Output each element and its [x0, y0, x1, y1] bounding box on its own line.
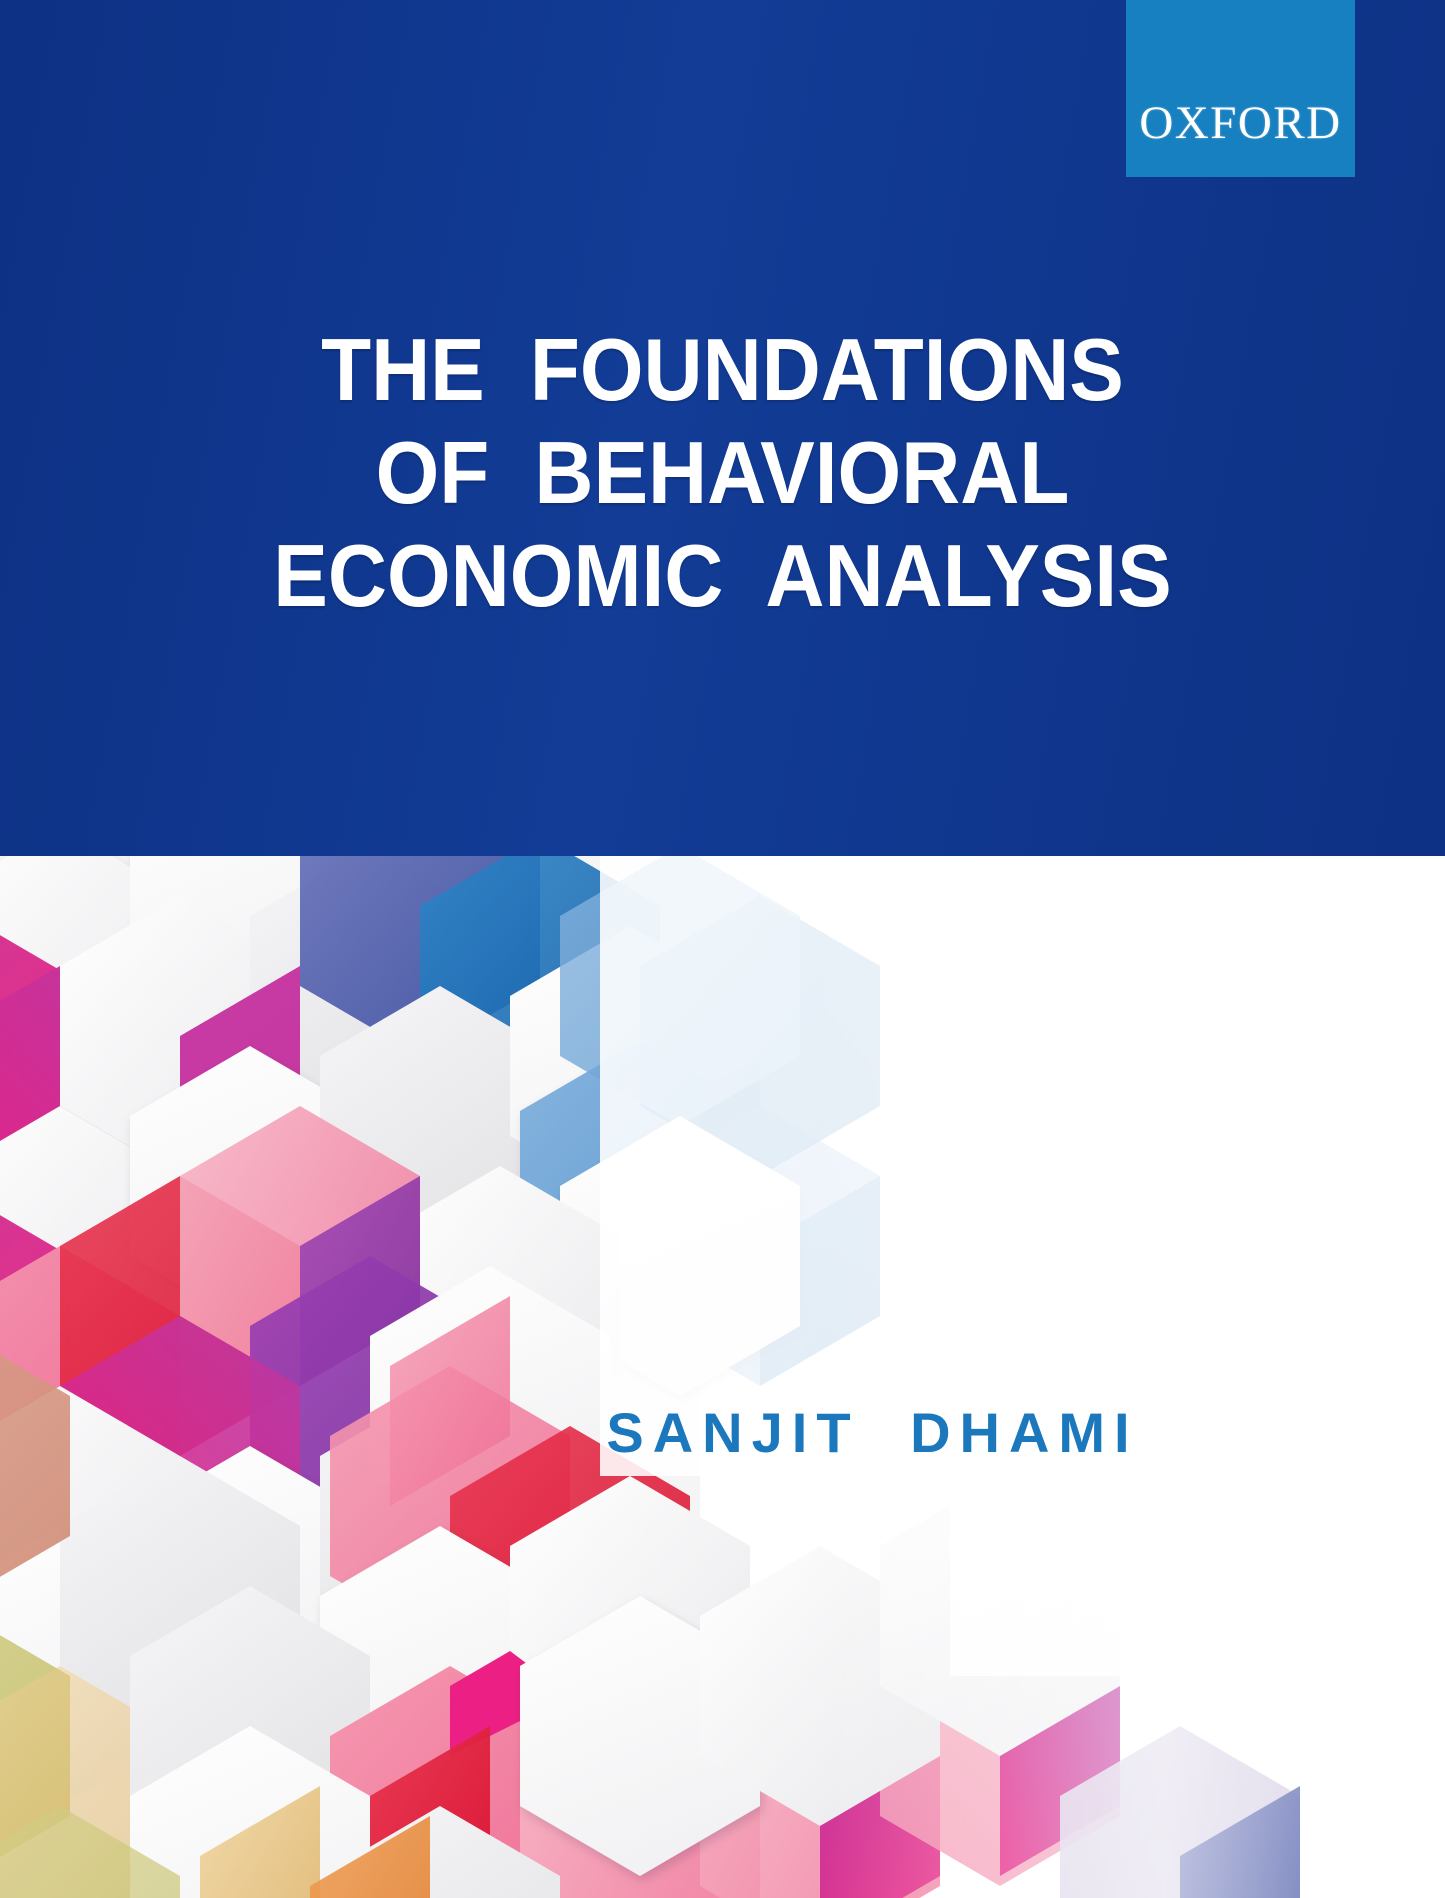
title-line-2: OF BEHAVIORAL [51, 421, 1395, 524]
hexagon-pattern-svg [0, 856, 1445, 1898]
book-cover: OXFORD THE FOUNDATIONS OF BEHAVIORAL ECO… [0, 0, 1445, 1898]
title-line-3: ECONOMIC ANALYSIS [51, 524, 1395, 627]
hexagon-artwork [0, 856, 1445, 1898]
publisher-logo-text: OXFORD [1139, 100, 1341, 177]
book-title: THE FOUNDATIONS OF BEHAVIORAL ECONOMIC A… [0, 318, 1445, 627]
title-line-1: THE FOUNDATIONS [51, 318, 1395, 421]
cover-top-banner: OXFORD THE FOUNDATIONS OF BEHAVIORAL ECO… [0, 0, 1445, 856]
oxford-publisher-logo: OXFORD [1126, 0, 1355, 177]
